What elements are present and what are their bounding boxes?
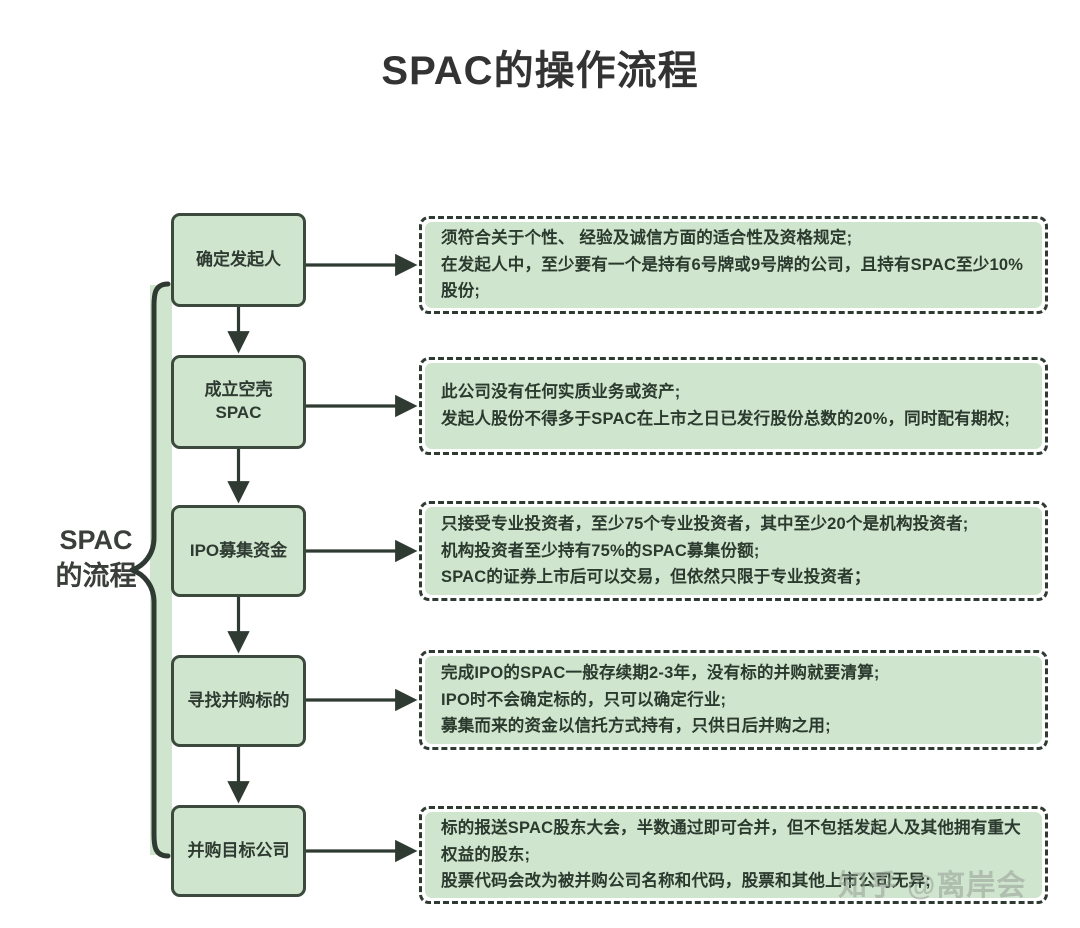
stage-box-2[interactable]: 成立空壳 SPAC <box>171 355 306 449</box>
detail-line: 须符合关于个性、 经验及诚信方面的适合性及资格规定; <box>441 225 1028 252</box>
detail-line: SPAC的证券上市后可以交易，但依然只限于专业投资者； <box>441 564 1028 591</box>
stage-box-1[interactable]: 确定发起人 <box>171 213 306 307</box>
detail-panel-4-body: 完成IPO的SPAC一般存续期2-3年，没有标的并购就要清算; IPO时不会确定… <box>425 656 1042 744</box>
detail-line: 标的报送SPAC股东大会，半数通过即可合并，但不包括发起人及其他拥有重大权益的股… <box>441 815 1028 868</box>
detail-line: 发起人股份不得多于SPAC在上市之日已发行股份总数的20%，同时配有期权; <box>441 406 1028 433</box>
stage-box-1-label: 确定发起人 <box>196 249 281 272</box>
detail-line: 此公司没有任何实质业务或资产; <box>441 379 1028 406</box>
detail-panel-1[interactable]: 须符合关于个性、 经验及诚信方面的适合性及资格规定; 在发起人中，至少要有一个是… <box>419 216 1048 314</box>
watermark: 知乎 @离岸会 <box>838 862 1026 904</box>
stage-box-5-label: 并购目标公司 <box>188 840 290 863</box>
curly-brace-icon <box>128 280 176 860</box>
detail-line: IPO时不会确定标的，只可以确定行业; <box>441 687 1028 714</box>
detail-panel-3-body: 只接受专业投资者，至少75个专业投资者，其中至少20个是机构投资者; 机构投资者… <box>425 507 1042 595</box>
detail-panel-1-body: 须符合关于个性、 经验及诚信方面的适合性及资格规定; 在发起人中，至少要有一个是… <box>425 222 1042 308</box>
detail-panel-4[interactable]: 完成IPO的SPAC一般存续期2-3年，没有标的并购就要清算; IPO时不会确定… <box>419 650 1048 750</box>
detail-panel-2-body: 此公司没有任何实质业务或资产; 发起人股份不得多于SPAC在上市之日已发行股份总… <box>425 363 1042 449</box>
stage-box-5[interactable]: 并购目标公司 <box>171 805 306 897</box>
detail-line: 在发起人中，至少要有一个是持有6号牌或9号牌的公司，且持有SPAC至少10%股份… <box>441 252 1028 305</box>
detail-line: 只接受专业投资者，至少75个专业投资者，其中至少20个是机构投资者; <box>441 511 1028 538</box>
stage-box-3-label: IPO募集资金 <box>190 540 287 563</box>
page-title: SPAC的操作流程 <box>0 38 1080 96</box>
detail-panel-2[interactable]: 此公司没有任何实质业务或资产; 发起人股份不得多于SPAC在上市之日已发行股份总… <box>419 357 1048 455</box>
detail-panel-3[interactable]: 只接受专业投资者，至少75个专业投资者，其中至少20个是机构投资者; 机构投资者… <box>419 501 1048 601</box>
stage-box-2-label: 成立空壳 SPAC <box>205 379 273 425</box>
stage-box-4[interactable]: 寻找并购标的 <box>171 655 306 747</box>
detail-line: 完成IPO的SPAC一般存续期2-3年，没有标的并购就要清算; <box>441 660 1028 687</box>
stage-box-3[interactable]: IPO募集资金 <box>171 505 306 597</box>
detail-line: 募集而来的资金以信托方式持有，只供日后并购之用; <box>441 713 1028 740</box>
detail-line: 机构投资者至少持有75%的SPAC募集份额; <box>441 538 1028 565</box>
stage-box-4-label: 寻找并购标的 <box>188 690 290 713</box>
